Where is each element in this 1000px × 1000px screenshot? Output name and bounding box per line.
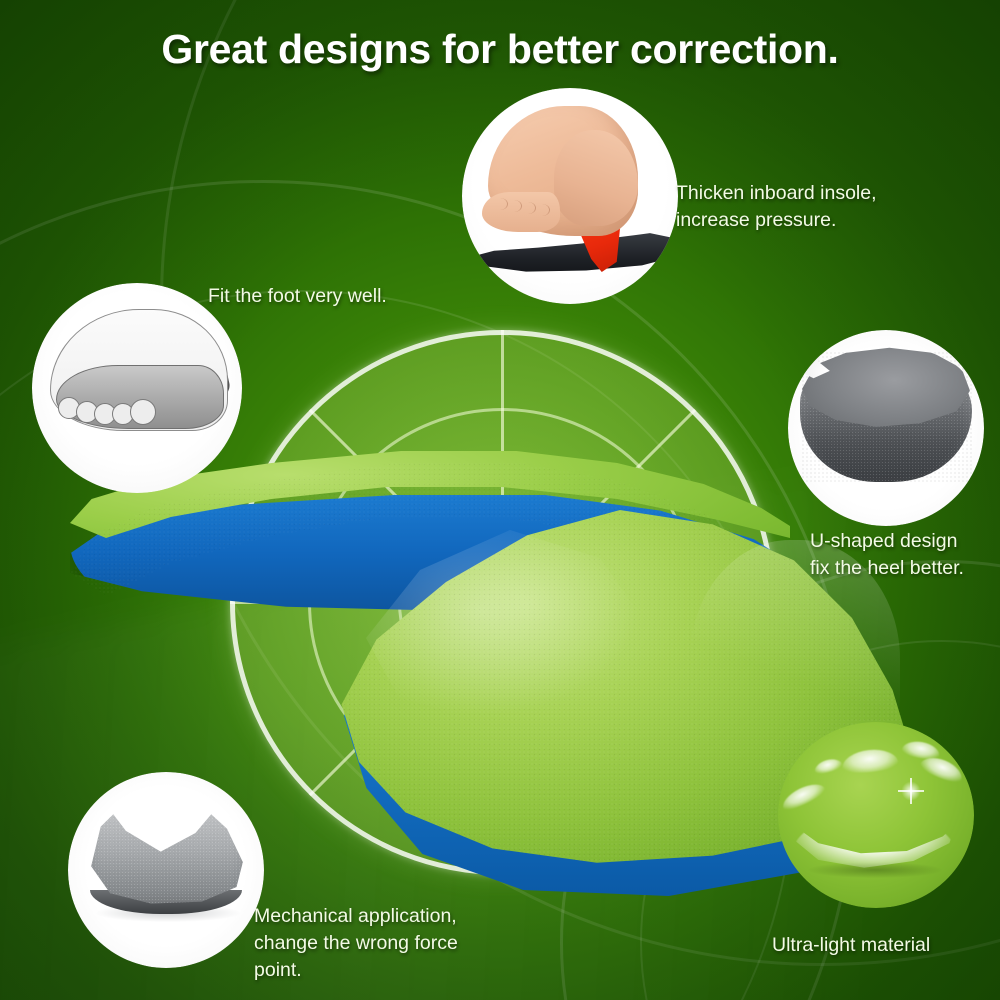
label-thicken-inboard-insole: Thicken inboard insole, increase pressur… [676, 180, 976, 234]
callout-fit-the-foot[interactable] [32, 283, 242, 493]
label-fit-the-foot: Fit the foot very well. [208, 283, 488, 310]
label-ultra-light-material: Ultra-light material [772, 932, 1000, 959]
callout-glow [32, 283, 242, 493]
callout-u-shaped-design[interactable] [788, 330, 984, 526]
label-u-shaped-design: U-shaped design fix the heel better. [810, 528, 990, 582]
callout-glow [788, 330, 984, 526]
callout-glow [68, 772, 264, 968]
callout-glow [462, 88, 678, 304]
callout-ultra-light-material[interactable] [778, 722, 974, 908]
callout-mechanical-application[interactable] [68, 772, 264, 968]
promo-image: Great designs for better correction. Thi… [0, 0, 1000, 1000]
callout-thicken-inboard-insole[interactable] [462, 88, 678, 304]
page-title: Great designs for better correction. [0, 26, 1000, 73]
callout-glow [778, 722, 974, 908]
label-mechanical-application: Mechanical application, change the wrong… [254, 903, 514, 984]
